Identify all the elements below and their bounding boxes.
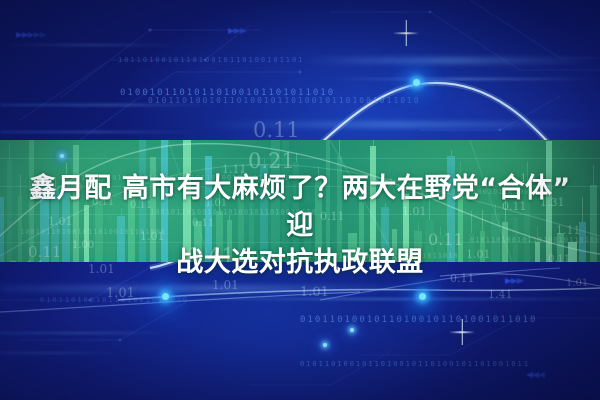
news-banner-image: 0100101101011010010110101101001011010010… [0,0,600,400]
vignette-overlay [0,0,600,400]
